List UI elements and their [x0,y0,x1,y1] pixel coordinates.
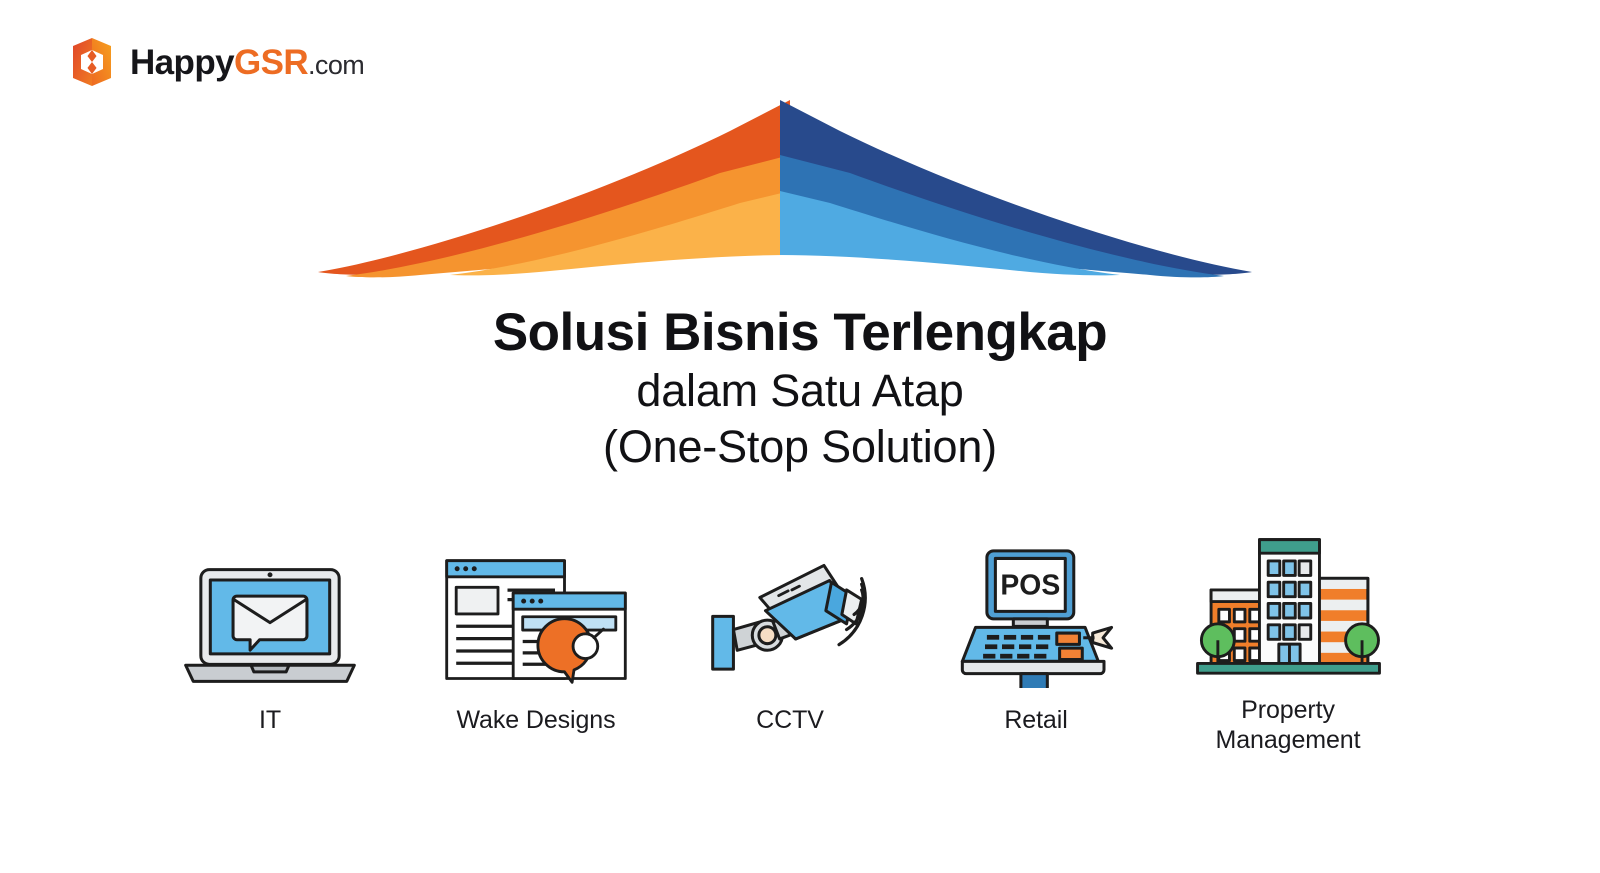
brand-word-gsr: GSR [234,45,308,80]
service-item-retail[interactable]: POS [936,548,1136,736]
layered-roof-swoosh-graphic [300,95,1270,285]
headline-line-2: dalam Satu Atap [0,363,1600,419]
headline-line-1: Solusi Bisnis Terlengkap [0,303,1600,363]
brand-wordmark: HappyGSR.com [130,45,364,80]
security-camera-icon [690,548,890,688]
service-label-property-management: Property Management [1168,696,1408,755]
poster-canvas: HappyGSR.com Solusi Bisnis Terlengkap da… [0,0,1600,873]
svg-text:POS: POS [1000,569,1060,601]
service-item-cctv[interactable]: CCTV [690,548,890,736]
hero-headline: Solusi Bisnis Terlengkap dalam Satu Atap… [0,303,1600,474]
brand-word-happy: Happy [130,45,234,80]
buildings-icon [1168,538,1408,678]
service-label-cctv: CCTV [690,706,890,736]
service-item-property-management[interactable]: Property Management [1168,538,1408,755]
service-label-retail: Retail [936,706,1136,736]
brand-word-dotcom: .com [308,52,364,79]
service-label-wake-designs: Wake Designs [426,706,646,736]
service-label-it: IT [170,706,370,736]
brand-logo[interactable]: HappyGSR.com [66,36,364,88]
pos-terminal-icon: POS [936,548,1136,688]
service-item-wake-designs[interactable]: Wake Designs [426,548,646,736]
happygsr-hexagon-logo-icon [66,36,118,88]
laptop-email-icon [170,548,370,688]
browser-windows-design-icon [426,548,646,688]
headline-line-3: (One-Stop Solution) [0,419,1600,475]
services-row: IT [0,548,1600,798]
service-item-it[interactable]: IT [170,548,370,736]
